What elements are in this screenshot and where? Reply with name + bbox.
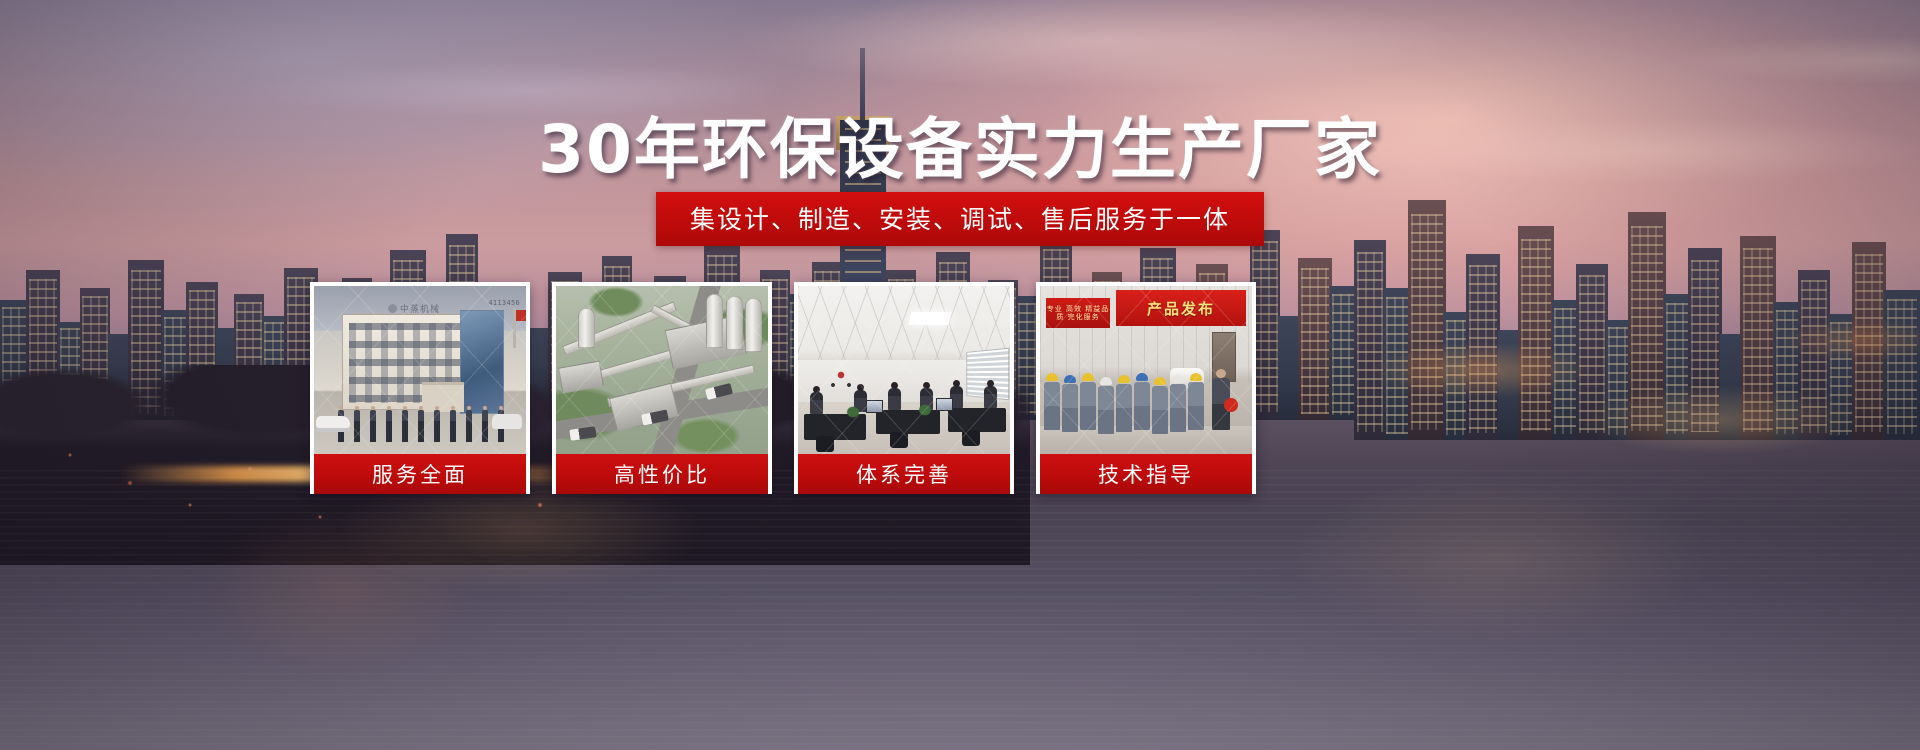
staff-line: [332, 410, 508, 448]
building-sign-text: 中蒸机械: [400, 302, 440, 315]
company-logo-mark: [388, 304, 397, 313]
feature-card[interactable]: 专业 高效 精益品质 完化服务 产品发布 技术指导: [1036, 282, 1256, 494]
page-title: 30年环保设备实力生产厂家: [0, 96, 1920, 192]
card-label: 高性价比: [556, 454, 768, 494]
feature-card[interactable]: 体系完善: [794, 282, 1014, 494]
wall-logo-icon: [826, 368, 856, 394]
building-phone-text: 4113456: [488, 299, 520, 307]
water-shimmer: [0, 470, 1920, 750]
feature-card-row: 中蒸机械 4113456 服务全面: [310, 282, 1260, 494]
building-sign: 中蒸机械: [366, 302, 462, 315]
ribbon-container: 集设计、制造、安装、调试、售后服务于一体: [0, 192, 1920, 246]
office-building-staff-photo: 中蒸机械 4113456: [314, 286, 526, 454]
subtitle-ribbon: 集设计、制造、安装、调试、售后服务于一体: [656, 192, 1264, 246]
feature-card[interactable]: 中蒸机械 4113456 服务全面: [310, 282, 530, 494]
factory-side-slogan: 专业 高效 精益品质 完化服务: [1046, 298, 1110, 328]
flag-icon: [513, 308, 516, 348]
aerial-industrial-plant-photo: [556, 286, 768, 454]
feature-card[interactable]: 高性价比: [552, 282, 772, 494]
card-label: 服务全面: [314, 454, 526, 494]
ceiling-light: [909, 312, 952, 325]
factory-workers-photo: 专业 高效 精益品质 完化服务 产品发布: [1040, 286, 1252, 454]
office-interior-staff-photo: [798, 286, 1010, 454]
card-label: 技术指导: [1040, 454, 1252, 494]
factory-red-banner: 产品发布: [1116, 290, 1246, 326]
red-helmet-icon: [1224, 398, 1238, 412]
card-label: 体系完善: [798, 454, 1010, 494]
hero-banner: 30年环保设备实力生产厂家 集设计、制造、安装、调试、售后服务于一体 中蒸机械 …: [0, 0, 1920, 750]
